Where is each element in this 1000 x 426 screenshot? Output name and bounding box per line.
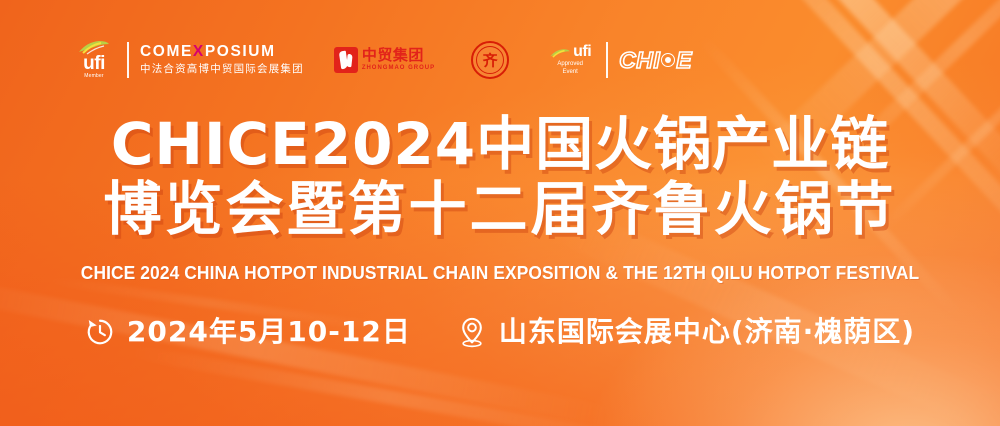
location-pin-icon [457,316,487,348]
chice-hotpot-icon [661,53,675,67]
ufi-wing-icon [549,47,571,60]
event-venue-item: 山东国际会展中心(济南·槐荫区) [457,316,915,348]
logo-divider [606,42,608,78]
logo-chice: CHIE [619,36,692,84]
logo-ufi-member: ufi Member [72,36,116,84]
ufi-approved-label-line2: Event [562,69,577,77]
ufi-approved-wordmark: ufi [573,44,591,60]
event-banner: ufi Member COMEXPOSIUM 中法合资高博中贸国际会展集团 中贸… [0,0,1000,426]
logo-divider [127,42,129,78]
event-info-row: 2024年5月10-12日 山东国际会展中心(济南·槐荫区) [0,316,1000,348]
sponsor-logo-strip: ufi Member COMEXPOSIUM 中法合资高博中贸国际会展集团 中贸… [72,36,692,84]
seal-glyph: 齐 [483,53,498,68]
headline-block: CHICE2024中国火锅产业链 博览会暨第十二届齐鲁火锅节 [0,112,1000,242]
headline-line-1: CHICE2024中国火锅产业链 [0,112,1000,177]
event-date-item: 2024年5月10-12日 [85,317,411,347]
clock-history-icon [85,317,115,347]
logo-association-seal: 齐 [471,36,509,84]
headline-line-2: 博览会暨第十二届齐鲁火锅节 [0,177,1000,242]
comexposium-word-x: X [193,43,205,60]
ufi-approved-label-line1: Approved [557,61,583,69]
english-subtitle: CHICE 2024 CHINA HOTPOT INDUSTRIAL CHAIN… [30,262,970,284]
comexposium-wordmark: COMEXPOSIUM [140,44,304,60]
chice-text-post: E [676,49,692,72]
comexposium-word-post: POSIUM [205,43,276,60]
event-date-text: 2024年5月10-12日 [127,318,411,346]
zhongmao-mark-icon [334,47,358,73]
logo-comexposium: COMEXPOSIUM 中法合资高博中贸国际会展集团 [140,36,304,84]
chice-wordmark: CHIE [619,49,692,72]
comexposium-word-pre: COME [140,43,193,60]
ufi-member-label: Member [84,74,104,80]
event-venue-text: 山东国际会展中心(济南·槐荫区) [499,318,915,346]
comexposium-chinese-name: 中法合资高博中贸国际会展集团 [140,63,304,77]
zhongmao-chinese-name: 中贸集团 [362,48,435,64]
ufi-wing-icon [77,40,111,55]
logo-zhongmao-group: 中贸集团 ZHONGMAO GROUP [334,36,435,84]
chice-text-pre: CHI [619,49,660,72]
circular-seal-icon: 齐 [471,41,509,79]
zhongmao-english-name: ZHONGMAO GROUP [362,65,435,72]
logo-ufi-approved-event: ufi Approved Event [545,36,595,84]
ufi-wordmark: ufi [83,54,105,73]
